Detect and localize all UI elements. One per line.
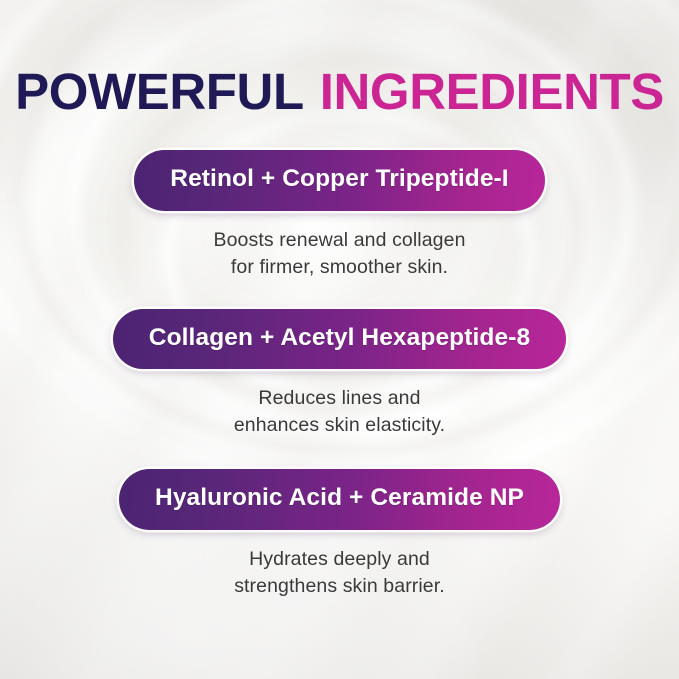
page-title-word-powerful: POWERFUL <box>15 63 304 120</box>
ingredient-description-1-line-1: Boosts renewal and collagen <box>60 227 620 254</box>
ingredient-description-1-line-2: for firmer, smoother skin. <box>60 254 620 281</box>
ingredient-description-3-line-2: strengthens skin barrier. <box>60 573 620 600</box>
ingredient-description-1: Boosts renewal and collagen for firmer, … <box>60 227 620 281</box>
page-title-word-ingredients: INGREDIENTS <box>320 63 664 120</box>
ingredient-pill-1[interactable]: Retinol + Copper Tripeptide-I <box>134 150 544 211</box>
ingredient-pill-3[interactable]: Hyaluronic Acid + Ceramide NP <box>119 469 560 530</box>
ingredient-description-2: Reduces lines and enhances skin elastici… <box>60 385 620 439</box>
ingredients-poster: POWERFULINGREDIENTS Retinol + Copper Tri… <box>0 0 679 679</box>
ingredient-item-1: Retinol + Copper Tripeptide-I Boosts ren… <box>0 150 679 281</box>
ingredient-description-3: Hydrates deeply and strengthens skin bar… <box>60 546 620 600</box>
ingredient-item-2: Collagen + Acetyl Hexapeptide-8 Reduces … <box>0 309 679 440</box>
ingredient-description-2-line-1: Reduces lines and <box>60 385 620 412</box>
poster-content: POWERFULINGREDIENTS Retinol + Copper Tri… <box>0 0 679 679</box>
ingredient-description-3-line-1: Hydrates deeply and <box>60 546 620 573</box>
ingredient-description-2-line-2: enhances skin elasticity. <box>60 412 620 439</box>
ingredient-item-3: Hyaluronic Acid + Ceramide NP Hydrates d… <box>0 469 679 600</box>
ingredient-pill-2[interactable]: Collagen + Acetyl Hexapeptide-8 <box>113 309 566 370</box>
ingredient-list: Retinol + Copper Tripeptide-I Boosts ren… <box>0 150 679 600</box>
page-title: POWERFULINGREDIENTS <box>0 62 679 122</box>
